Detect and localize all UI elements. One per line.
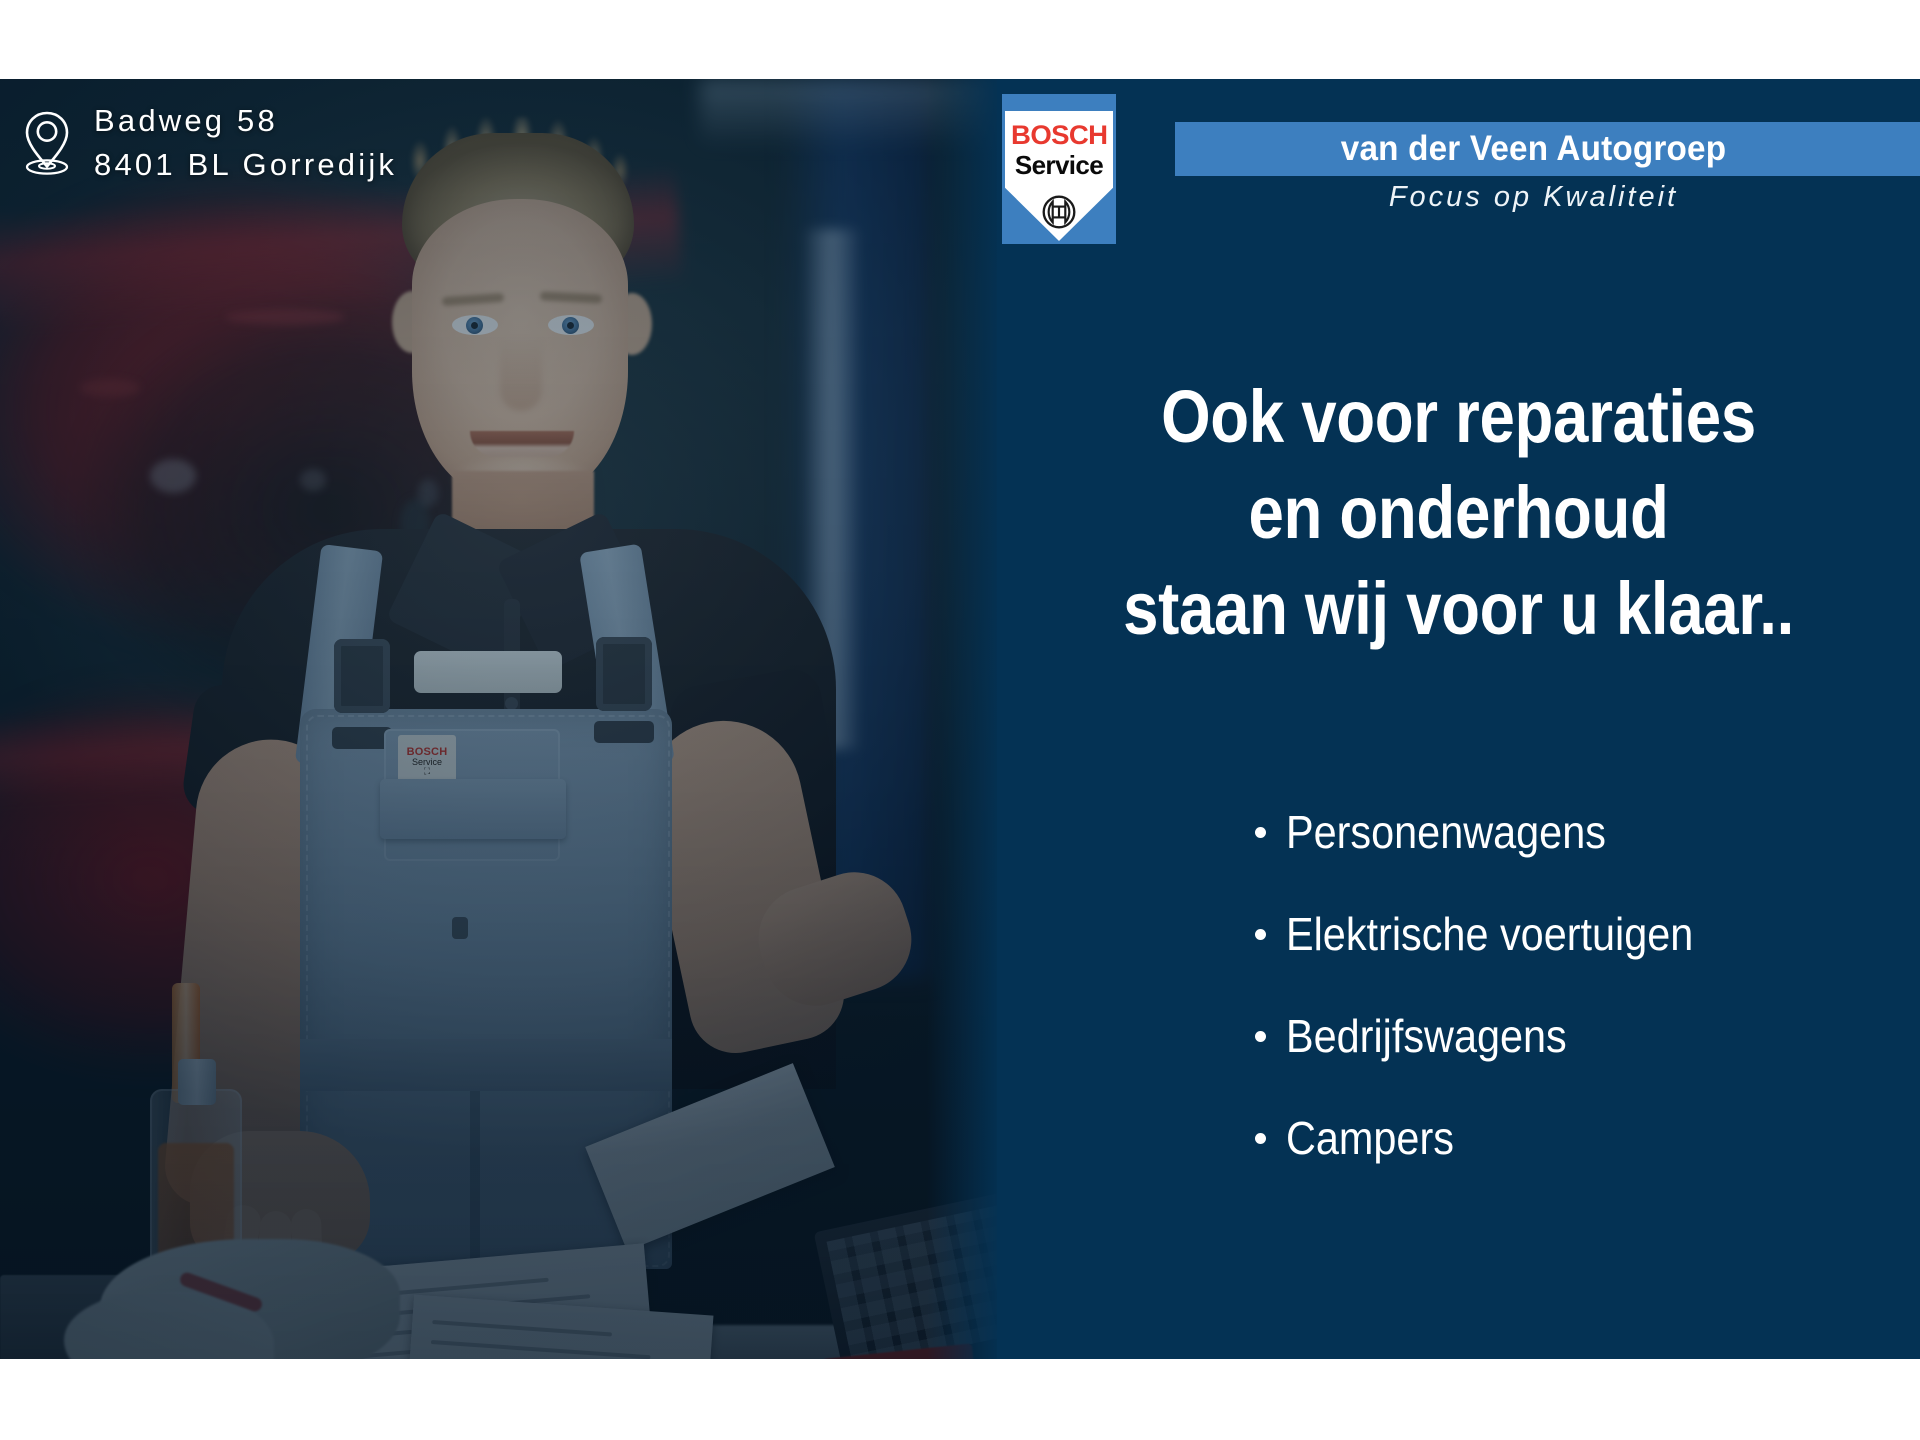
photo-edge-fade — [927, 79, 997, 1359]
address-overlay: Badweg 58 8401 BL Gorredijk — [22, 99, 397, 187]
bullet-icon — [1255, 827, 1266, 838]
bullet-icon — [1255, 1133, 1266, 1144]
address-line-2: 8401 BL Gorredijk — [94, 143, 397, 187]
photo-vignette — [0, 79, 997, 1359]
headline-line-1: Ook voor reparaties — [1062, 369, 1856, 465]
headline-line-2: en onderhoud — [1062, 465, 1856, 561]
logo-wordmark: BOSCH Service — [1005, 111, 1113, 189]
company-tagline: Focus op Kwaliteit — [1147, 181, 1920, 214]
headline-line-3: staan wij voor u klaar.. — [1062, 561, 1856, 657]
logo-service-text: Service — [1015, 152, 1103, 178]
service-label: Elektrische voertuigen — [1286, 911, 1693, 957]
bullet-icon — [1255, 929, 1266, 940]
bosch-service-logo: BOSCH Service — [1002, 94, 1116, 244]
info-panel: van der Veen Autogroep Focus op Kwalitei… — [997, 79, 1920, 1359]
list-item: Elektrische voertuigen — [997, 911, 1920, 957]
services-list: Personenwagens Elektrische voertuigen Be… — [997, 809, 1920, 1161]
logo-top-bar — [1005, 97, 1113, 111]
address-text: Badweg 58 8401 BL Gorredijk — [94, 99, 397, 187]
content-band: BOSCH Service ⛶ — [0, 79, 1920, 1359]
bullet-icon — [1255, 1031, 1266, 1042]
logo-bosch-text: BOSCH — [1011, 122, 1107, 149]
list-item: Bedrijfswagens — [997, 1013, 1920, 1059]
list-item: Campers — [997, 1115, 1920, 1161]
address-line-1: Badweg 58 — [94, 99, 397, 143]
service-label: Personenwagens — [1286, 809, 1606, 855]
poster-canvas: BOSCH Service ⛶ — [0, 0, 1920, 1440]
service-label: Bedrijfswagens — [1286, 1013, 1567, 1059]
service-label: Campers — [1286, 1115, 1454, 1161]
headline: Ook voor reparaties en onderhoud staan w… — [997, 369, 1920, 658]
brand-header: van der Veen Autogroep Focus op Kwalitei… — [997, 79, 1920, 259]
company-name: van der Veen Autogroep — [1166, 119, 1900, 179]
bosch-armature-icon — [1041, 194, 1077, 230]
list-item: Personenwagens — [997, 809, 1920, 855]
location-pin-icon — [22, 110, 72, 176]
mechanic-workshop-photo: BOSCH Service ⛶ — [0, 79, 997, 1359]
